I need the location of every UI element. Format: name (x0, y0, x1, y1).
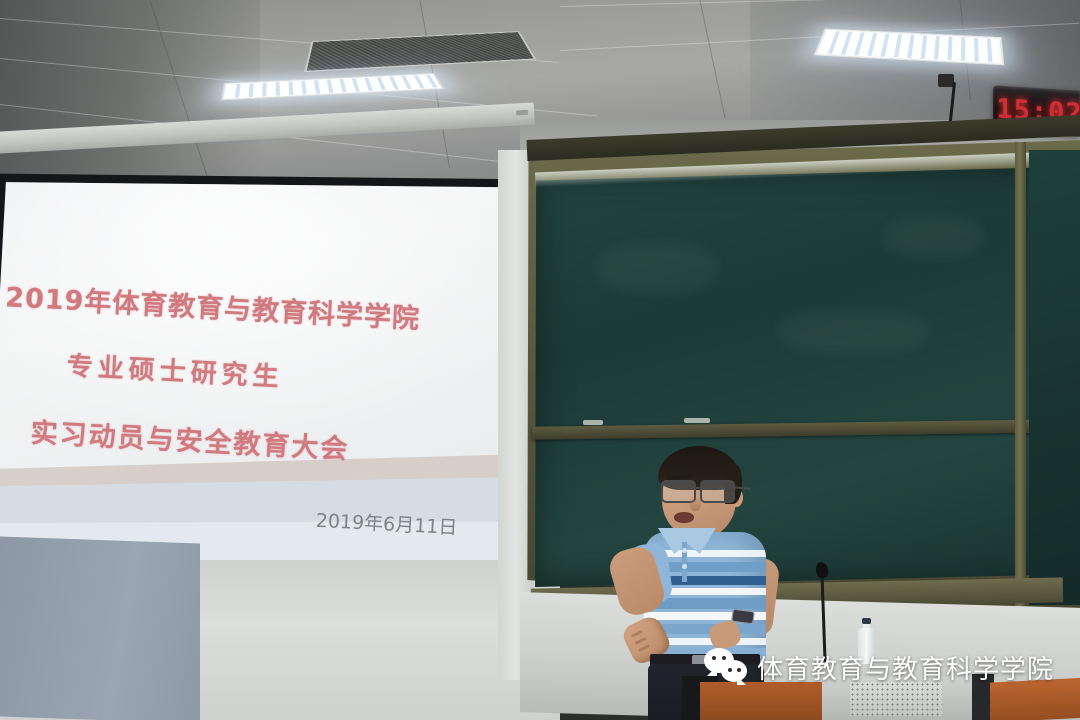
fist-knuckle (631, 630, 643, 638)
podium (700, 670, 1080, 720)
podium-wood-left (700, 682, 822, 720)
ceiling-tile-line (700, 0, 726, 118)
wall-socket (938, 74, 954, 87)
glasses-lens-right (700, 480, 735, 503)
shirt-button (682, 548, 687, 553)
air-vent-icon (307, 32, 534, 71)
shirt-button (682, 564, 687, 569)
slide-date: 2019年6月11日 (315, 506, 458, 540)
chalk-piece (583, 420, 603, 425)
presenter-nose (690, 496, 701, 511)
slide-title-line-3: 实习动员与安全教育大会 (30, 411, 351, 467)
bottle-cap (862, 618, 871, 624)
speaker-grille (850, 682, 942, 716)
wall-left-panel (0, 537, 200, 720)
slide-title-line-2: 专业硕士研究生 (66, 345, 285, 393)
chalkboard-divider (1015, 142, 1026, 622)
presenter-mouth (674, 512, 694, 523)
water-bottle (858, 618, 875, 664)
classroom-photo-scene: 15:02 2019年体育教育与教育科学学院 专业硕士研究生 实习动员与安全教育… (0, 0, 1080, 720)
glasses-icon (660, 480, 744, 500)
chalk-piece (684, 418, 710, 423)
chalk-smudge (597, 243, 717, 293)
glasses-bridge (692, 487, 700, 489)
bottle-body (858, 628, 875, 664)
chalkboard-right-panel (1029, 150, 1080, 605)
slide-title-line-1: 2019年体育教育与教育科学学院 (4, 275, 421, 336)
housing-endcap (516, 110, 528, 116)
chalk-smudge (778, 310, 928, 354)
podium-wood-right (990, 677, 1080, 720)
fist-knuckle (638, 644, 650, 652)
chalk-smudge (884, 217, 984, 257)
fist-knuckle (634, 637, 646, 645)
